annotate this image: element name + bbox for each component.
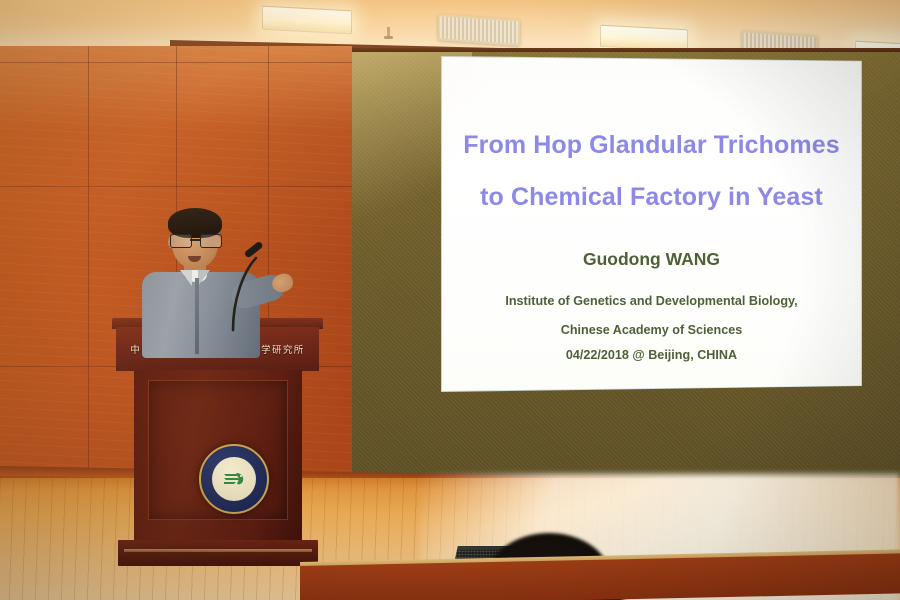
slide-affiliation-line-1: Institute of Genetics and Developmental … — [442, 287, 861, 316]
slide-affiliation-line-2: Chinese Academy of Sciences — [442, 316, 861, 345]
projected-slide: From Hop Glandular Trichomes to Chemical… — [442, 57, 861, 391]
wall-seam-horizontal-1 — [0, 62, 352, 63]
slide-title: From Hop Glandular Trichomes to Chemical… — [442, 119, 861, 223]
wall-seam-vertical-1 — [88, 46, 89, 516]
igdb-cas-emblem-icon — [199, 444, 269, 514]
sprinkler-head-icon — [387, 27, 390, 38]
presenter-shirt-placket — [195, 278, 199, 354]
glasses-lens-left — [170, 234, 192, 248]
ceiling-light-1 — [262, 6, 352, 35]
presenter — [140, 212, 290, 342]
slide-content: From Hop Glandular Trichomes to Chemical… — [442, 57, 861, 391]
podium-base-plinth — [118, 540, 318, 566]
projection-screen: From Hop Glandular Trichomes to Chemical… — [441, 56, 862, 392]
emblem-leaf-icon — [223, 470, 245, 488]
lecture-hall-photo: From Hop Glandular Trichomes to Chemical… — [0, 0, 900, 600]
slide-affiliation: Institute of Genetics and Developmental … — [442, 287, 861, 345]
slide-title-line-1: From Hop Glandular Trichomes — [442, 119, 861, 171]
glasses-bridge — [190, 239, 200, 241]
wall-seam-horizontal-2 — [0, 186, 352, 187]
ceiling-ambient-glow — [0, 0, 430, 40]
presenter-collar-left — [180, 270, 192, 286]
presenter-collar-right — [198, 270, 210, 286]
slide-author-name: Guodong WANG — [442, 249, 861, 270]
presenter-glasses-icon — [168, 234, 222, 247]
slide-title-line-2: to Chemical Factory in Yeast — [442, 171, 861, 223]
podium-body — [134, 370, 302, 544]
slide-date-location: 04/22/2018 @ Beijing, CHINA — [442, 348, 861, 362]
glasses-lens-right — [200, 234, 222, 248]
